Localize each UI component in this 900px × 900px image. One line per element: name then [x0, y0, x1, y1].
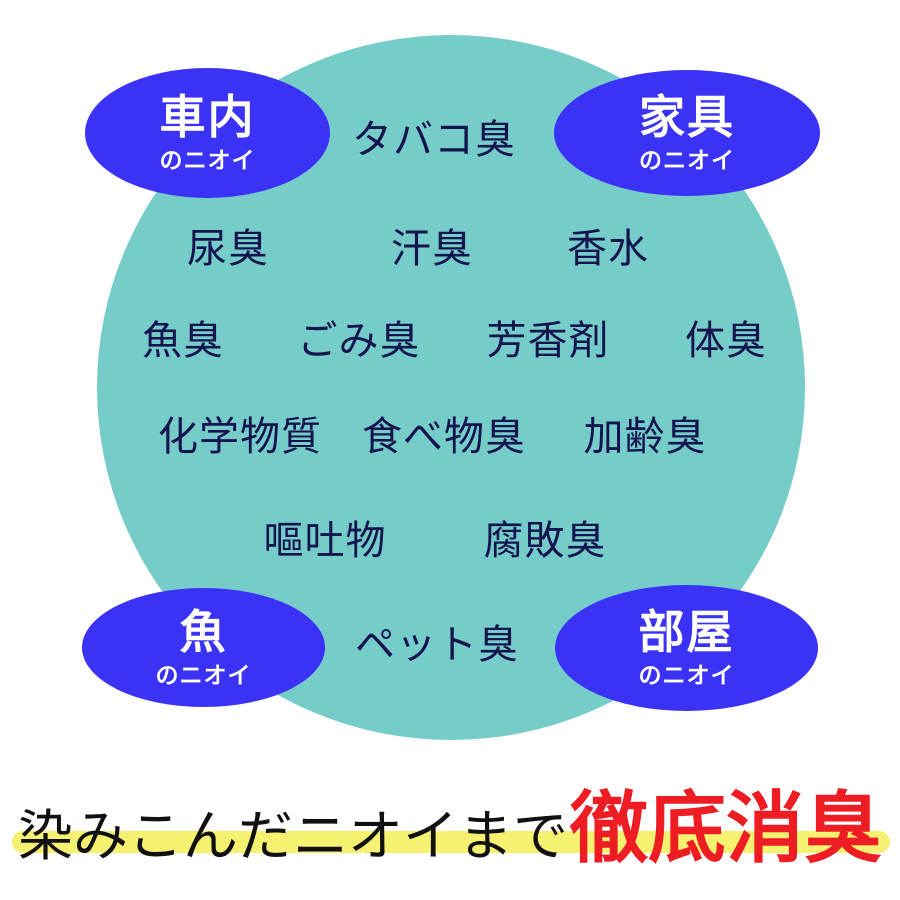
category-badge-car-title: 車内: [160, 94, 256, 140]
odor-word: ごみ臭: [298, 321, 421, 361]
poster-canvas: タバコ臭 尿臭 汗臭 香水 魚臭 ごみ臭 芳香剤 体臭 化学物質 食べ物臭 加齢…: [0, 0, 900, 900]
odor-word: 食べ物臭: [362, 417, 526, 457]
category-badge-fish-title: 魚: [180, 609, 228, 655]
odor-word: 加齢臭: [584, 417, 707, 457]
odor-word: 汗臭: [391, 229, 473, 269]
category-badge-room: 部屋 のニオイ: [555, 585, 818, 711]
category-badge-car-subtitle: のニオイ: [160, 149, 256, 172]
headline: 染みこんだニオイまで 徹底消臭: [0, 756, 900, 900]
odor-word: 魚臭: [142, 321, 224, 361]
category-badge-furniture-subtitle: のニオイ: [639, 149, 735, 172]
odor-word: 香水: [567, 229, 649, 269]
headline-inner: 染みこんだニオイまで 徹底消臭: [8, 789, 892, 867]
headline-accent-text: 徹底消臭: [570, 789, 882, 867]
odor-word: 化学物質: [158, 417, 322, 457]
odor-word: 尿臭: [187, 229, 269, 269]
odor-word: タバコ臭: [352, 120, 516, 160]
category-badge-room-title: 部屋: [639, 609, 735, 655]
category-badge-furniture-title: 家具: [639, 94, 735, 140]
category-badge-fish-subtitle: のニオイ: [156, 664, 252, 687]
odor-word: 芳香剤: [487, 321, 610, 361]
odor-word: 腐敗臭: [484, 521, 607, 561]
category-badge-car: 車内 のニオイ: [85, 68, 330, 198]
headline-plain-text: 染みこんだニオイまで: [18, 809, 568, 864]
odor-word: 体臭: [685, 321, 767, 361]
odor-word: 嘔吐物: [264, 521, 387, 561]
category-badge-furniture: 家具 のニオイ: [554, 70, 820, 196]
category-badge-fish: 魚 のニオイ: [82, 588, 325, 707]
odor-word: ペット臭: [355, 625, 519, 665]
category-badge-room-subtitle: のニオイ: [639, 664, 735, 687]
